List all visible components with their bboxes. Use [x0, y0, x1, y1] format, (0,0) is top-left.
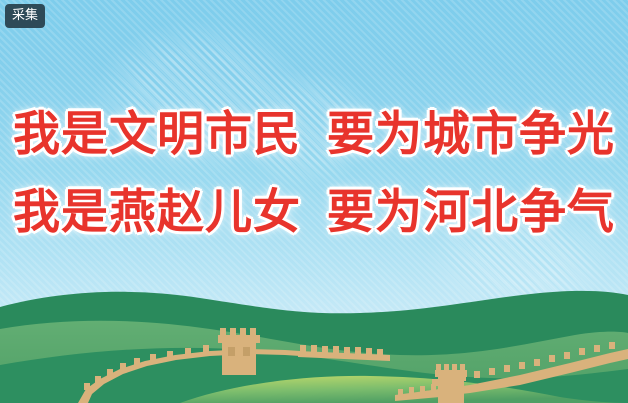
slogan-block: 我是文明市民要为城市争光 我是燕赵儿女要为河北争气	[0, 96, 628, 252]
landscape-svg	[0, 273, 628, 403]
slogan-line-2: 我是燕赵儿女要为河北争气	[0, 174, 628, 252]
landscape-illustration	[0, 273, 628, 403]
slogan-line-1-right: 要为城市争光	[327, 107, 615, 162]
promotional-banner: 我是文明市民要为城市争光 我是燕赵儿女要为河北争气	[0, 0, 628, 403]
slogan-line-1: 我是文明市民要为城市争光	[0, 96, 628, 174]
capture-button[interactable]: 采集	[5, 4, 45, 28]
slogan-line-1-left: 我是文明市民	[13, 107, 301, 162]
slogan-line-2-right: 要为河北争气	[327, 185, 615, 240]
slogan-line-2-left: 我是燕赵儿女	[13, 185, 301, 240]
